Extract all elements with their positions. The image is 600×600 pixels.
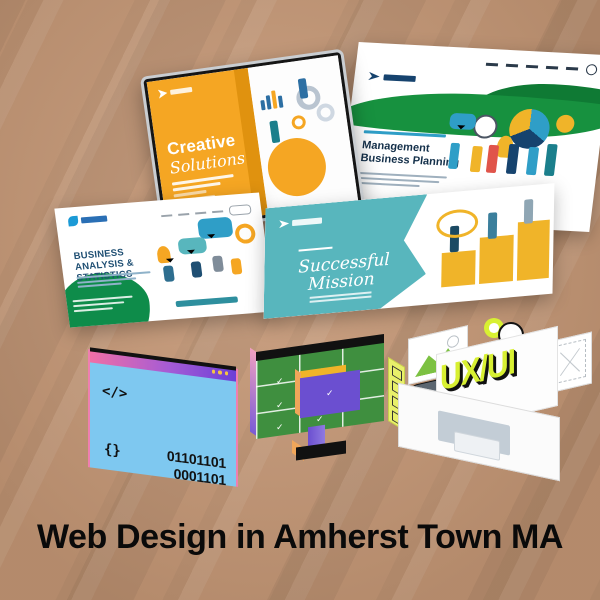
person-figure xyxy=(526,147,539,175)
nav-dash[interactable] xyxy=(546,66,558,69)
nav-dash[interactable] xyxy=(178,213,189,216)
chat-bubble xyxy=(197,217,234,240)
bar-chart-bar xyxy=(266,95,272,109)
person-figure xyxy=(524,199,533,224)
bar-chart-bar xyxy=(261,100,266,110)
nav-dash[interactable] xyxy=(195,212,206,215)
sun-icon xyxy=(447,334,459,349)
person-figure xyxy=(212,255,224,272)
monitor-base xyxy=(296,440,346,460)
page-title: Web Design in Amherst Town MA xyxy=(0,518,600,557)
nav-dash[interactable] xyxy=(566,67,578,70)
gear-icon xyxy=(316,102,336,122)
step-block xyxy=(479,235,514,284)
wireframe-block-outline xyxy=(554,339,586,384)
bar-chart-bar xyxy=(278,95,284,107)
person-figure xyxy=(488,212,497,239)
chat-bubble xyxy=(449,113,477,130)
check-icon: ✓ xyxy=(276,400,284,411)
nav-dash[interactable] xyxy=(161,214,172,217)
person-figure xyxy=(544,144,558,176)
nav-dash[interactable] xyxy=(212,210,223,213)
gear-icon xyxy=(291,114,307,130)
ring-accent xyxy=(436,208,478,240)
bar-chart-bar xyxy=(271,90,277,108)
tool-swatch[interactable] xyxy=(392,365,402,381)
binary-code-window: </> {} 01101101 0001101 xyxy=(88,357,238,477)
chat-bubble xyxy=(177,237,207,255)
brand-logo xyxy=(368,71,417,84)
brand-logo xyxy=(67,213,108,226)
person-figure xyxy=(163,265,175,282)
nav-dash[interactable] xyxy=(506,64,518,67)
lightbulb-icon xyxy=(156,246,171,264)
screenshot-canvas: Management Business Planning Creative So… xyxy=(0,0,600,600)
check-icon: ✓ xyxy=(276,422,284,433)
uxui-laptop-illustration: UX/UI xyxy=(388,318,588,483)
search-button[interactable] xyxy=(228,204,251,216)
person-figure xyxy=(506,144,520,174)
grid-monitor-illustration: ✓ ✓ ✓ ✓ ✓ ✓ xyxy=(250,344,390,462)
code-window-shell: </> {} 01101101 0001101 xyxy=(88,347,238,487)
check-icon: ✓ xyxy=(276,376,284,387)
window-controls[interactable] xyxy=(212,369,229,375)
code-brace-icon: {} xyxy=(104,441,121,459)
check-icon: ✓ xyxy=(326,388,334,399)
nav-menu[interactable] xyxy=(485,59,597,76)
person-figure xyxy=(230,258,242,275)
accent-circle xyxy=(264,134,330,200)
slide-title-line2: Business Planning xyxy=(360,152,460,169)
nav-dash[interactable] xyxy=(486,63,498,66)
nav-dash[interactable] xyxy=(526,65,538,68)
person-figure xyxy=(470,146,483,172)
person-figure xyxy=(298,78,309,99)
step-block xyxy=(517,220,550,281)
person-figure xyxy=(190,261,202,278)
slide-paragraph xyxy=(357,172,447,192)
person-figure xyxy=(270,120,281,143)
search-icon[interactable] xyxy=(585,64,597,75)
meeting-table xyxy=(175,296,238,307)
business-analysis-slide: BUSINESS ANALYSIS & STATISTICS xyxy=(54,192,274,327)
code-tag-icon: </> xyxy=(102,383,127,402)
person-figure xyxy=(486,145,499,173)
gear-icon xyxy=(234,223,257,244)
brand-logo xyxy=(158,85,193,99)
step-block xyxy=(441,250,475,287)
